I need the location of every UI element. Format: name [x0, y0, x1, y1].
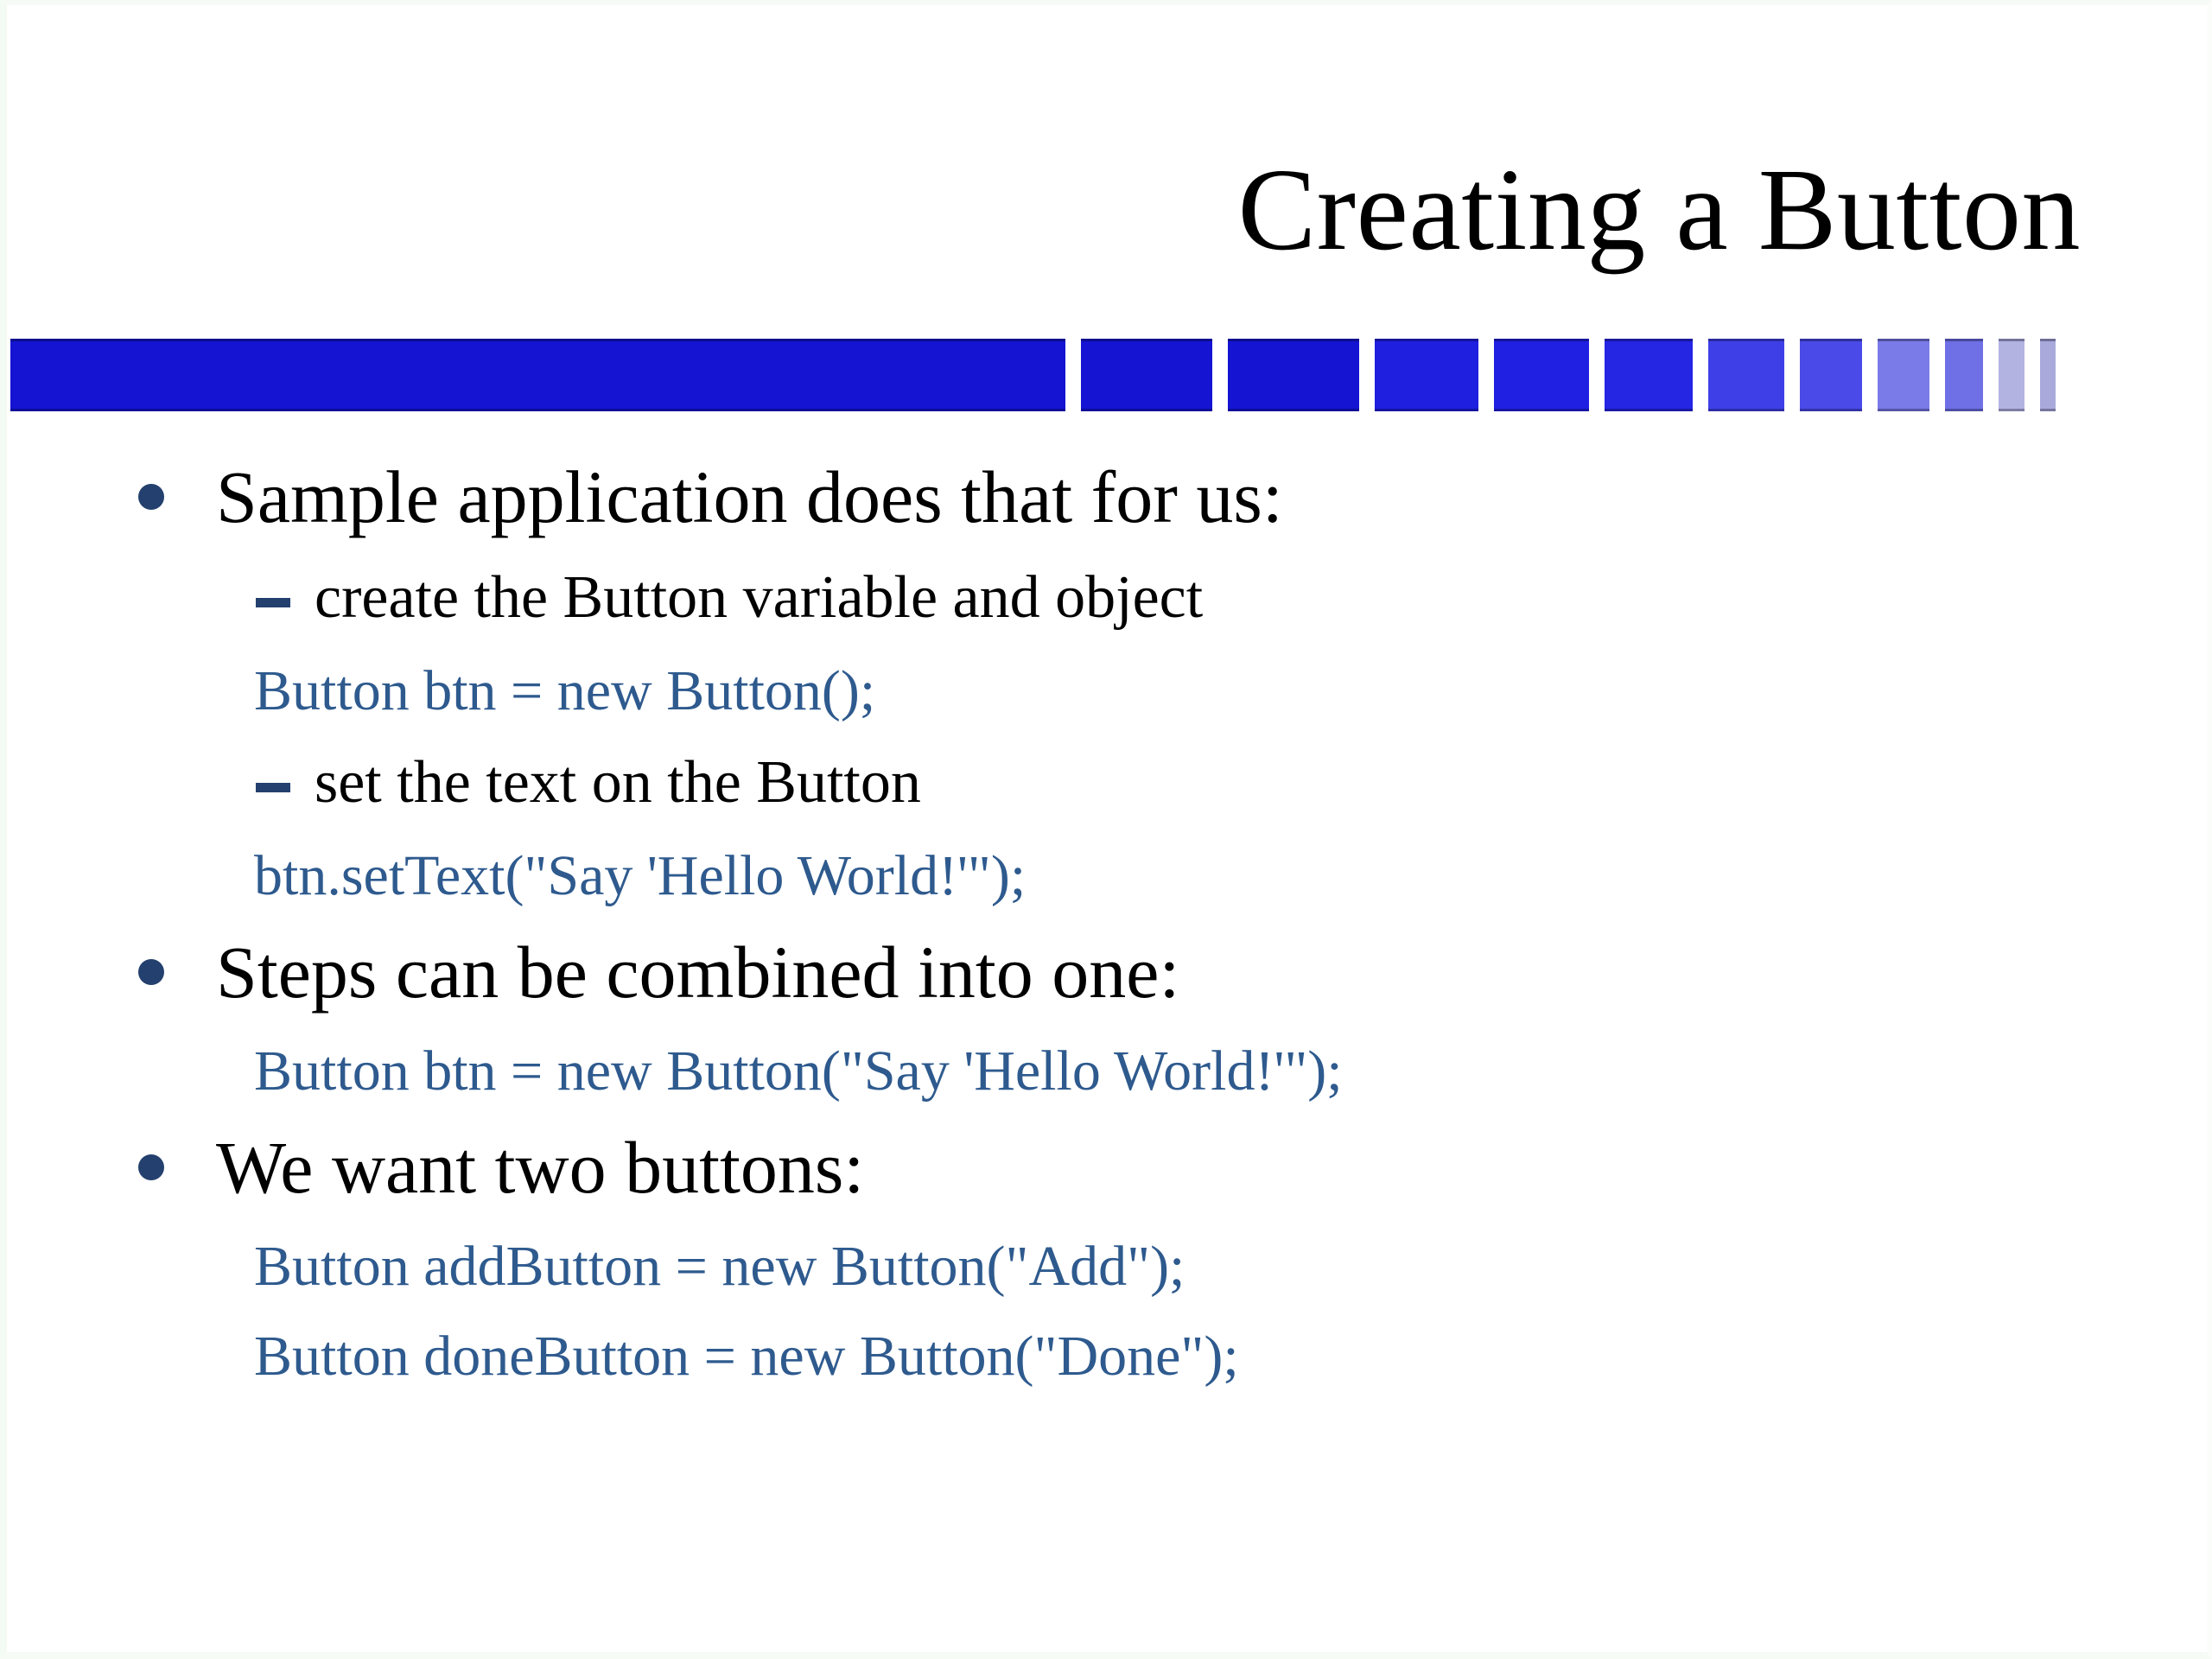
title-placeholder: Creating a Button [7, 135, 2081, 299]
round-bullet-icon [138, 484, 164, 510]
code-line: Button doneButton = new Button("Done"); [7, 1312, 2184, 1402]
bullet-text: We want two buttons: [216, 1116, 864, 1218]
sub-bullet-text: set the text on the Button [315, 736, 921, 829]
decorative-bar-segment-11 [1999, 339, 2024, 411]
decorative-bar-segment-8 [1800, 339, 1862, 411]
round-bullet-icon [138, 959, 164, 985]
bullet-item-level1: Sample application does that for us: [7, 446, 2184, 548]
decorative-bar-segment-4 [1375, 339, 1478, 411]
decorative-bar-segment-1 [10, 339, 1065, 411]
decorative-segmented-bar [10, 339, 2056, 411]
decorative-bar-segment-12 [2040, 339, 2056, 411]
bullet-item-level2: set the text on the Button [7, 736, 2184, 829]
bullet-item-level1: We want two buttons: [7, 1116, 2184, 1218]
decorative-bar-segment-9 [1878, 339, 1929, 411]
bullet-item-level2: create the Button variable and object [7, 551, 2184, 645]
dash-bullet-icon [256, 783, 290, 792]
decorative-bar-segment-7 [1708, 339, 1784, 411]
bullet-text: Sample application does that for us: [216, 446, 1283, 548]
body-placeholder: Sample application does that for us:crea… [7, 446, 2184, 1638]
sub-bullet-text: create the Button variable and object [315, 551, 1203, 645]
decorative-bar-segment-10 [1945, 339, 1983, 411]
dash-bullet-icon [256, 598, 290, 607]
presentation-slide: Creating a Button Sample application doe… [0, 0, 2212, 1659]
decorative-bar-segment-3 [1228, 339, 1359, 411]
decorative-bar-segment-5 [1494, 339, 1589, 411]
decorative-bar-segment-2 [1081, 339, 1212, 411]
code-line: Button addButton = new Button("Add"); [7, 1222, 2184, 1312]
code-line: Button btn = new Button(); [7, 646, 2184, 736]
code-line: btn.setText("Say 'Hello World!'"); [7, 831, 2184, 921]
bullet-text: Steps can be combined into one: [216, 921, 1179, 1023]
round-bullet-icon [138, 1154, 164, 1180]
bullet-item-level1: Steps can be combined into one: [7, 921, 2184, 1023]
decorative-bar-segment-6 [1605, 339, 1693, 411]
code-line: Button btn = new Button("Say 'Hello Worl… [7, 1027, 2184, 1116]
page-title: Creating a Button [1238, 135, 2081, 286]
